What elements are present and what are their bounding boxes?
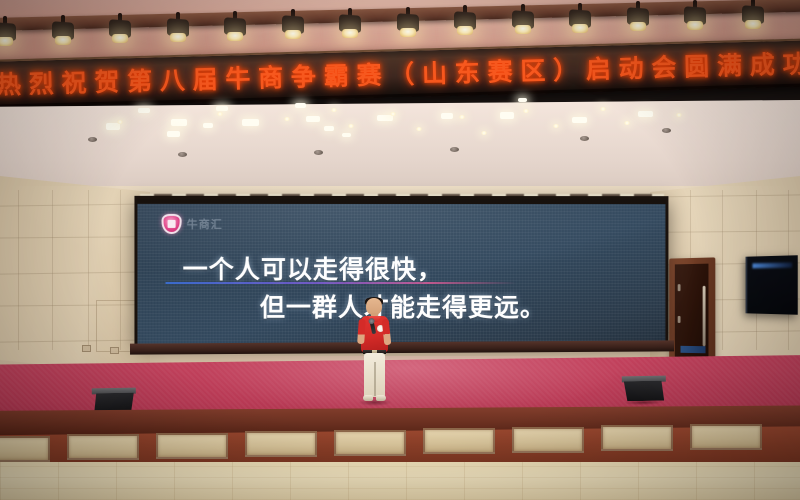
auditorium-floor	[0, 462, 800, 500]
spotlight-lens	[745, 20, 761, 29]
spotlight-lens	[457, 26, 473, 35]
ceiling-downlight	[676, 113, 682, 117]
spotlight-lens	[112, 34, 128, 43]
slide-text-line-2: 但一群人才能走得更远。	[260, 288, 546, 324]
banner-char: 启	[585, 50, 611, 87]
auditorium-scene: 热烈祝贺第八届牛商争霸赛（山东赛区）启动会圆满成功 牛商汇 一个人可以走得很快，…	[0, 0, 800, 500]
stage-spotlight	[627, 1, 649, 35]
stage-front-panel	[156, 433, 228, 459]
stage-spotlight	[167, 12, 189, 46]
ceiling-panel-light	[138, 108, 150, 113]
ceiling-panel-light	[441, 113, 453, 119]
banner-char: 烈	[28, 64, 54, 101]
screen-logo-label: 牛商汇	[187, 216, 223, 232]
stage-led-screen[interactable]: 牛商汇 一个人可以走得很快， 但一群人才能走得更远。	[134, 196, 668, 344]
ceiling-downlight	[416, 127, 422, 131]
ceiling-panel-light	[167, 131, 180, 137]
presenter[interactable]	[352, 298, 396, 404]
stage-light-pool	[200, 356, 620, 416]
spotlight-lens	[0, 37, 13, 46]
banner-char: 届	[192, 60, 218, 97]
banner-char: 满	[716, 46, 742, 83]
banner-char: 赛	[356, 56, 382, 93]
stage-spotlight	[339, 8, 361, 42]
stage-spotlight	[109, 13, 131, 47]
ceiling-downlight	[390, 112, 396, 116]
ceiling-speaker	[580, 136, 589, 141]
banner-char: 牛	[225, 59, 251, 96]
stage-front-panel	[0, 436, 50, 462]
banner-char: 热	[0, 65, 21, 102]
spotlight-lens	[687, 21, 703, 30]
banner-char: （	[389, 55, 415, 92]
spotlight-lens	[400, 28, 416, 37]
banner-char: 圆	[684, 47, 710, 84]
ceiling-speaker	[88, 137, 97, 142]
ceiling-panel-light	[324, 126, 333, 130]
stage-spotlight	[52, 15, 74, 49]
monitor-face-right	[624, 381, 664, 402]
banner-char: 商	[258, 58, 284, 95]
banner-char: 东	[454, 53, 480, 90]
spotlight-lens	[342, 29, 358, 38]
banner-char: 会	[651, 48, 677, 85]
door-hinge-lower	[678, 316, 681, 323]
ceiling-downlight	[217, 112, 223, 116]
screen-surface: 牛商汇 一个人可以走得很快， 但一群人才能走得更远。	[137, 204, 665, 344]
stage-front-panel	[334, 430, 406, 456]
spotlight-lens	[227, 32, 243, 41]
presenter-arm-right	[382, 319, 392, 346]
banner-char: 功	[782, 44, 800, 81]
spotlight-lens	[515, 25, 531, 34]
ceiling-panel-light	[106, 123, 120, 129]
ceiling-speaker	[450, 147, 459, 152]
presenter-shoe-right	[376, 395, 386, 401]
side-door[interactable]	[669, 257, 715, 366]
ceiling-speaker	[662, 128, 671, 133]
spotlight-lens	[55, 36, 71, 45]
spotlight-lens	[285, 30, 301, 39]
banner-char: 赛	[487, 52, 513, 89]
banner-char: ）	[553, 50, 579, 87]
ceiling-panel-light	[306, 116, 320, 122]
stage-front-panel	[690, 424, 762, 450]
ceiling-downlight	[481, 131, 487, 135]
ceiling-panel-light	[242, 119, 259, 126]
stage-spotlight	[397, 7, 419, 41]
stage-spotlight	[0, 16, 16, 50]
stage-front-panel	[601, 425, 673, 451]
door-handle[interactable]	[703, 286, 706, 346]
stage-spotlight	[224, 11, 246, 45]
ceiling-panel-light	[377, 115, 393, 121]
ceiling-downlight	[600, 107, 606, 111]
stage-front-panel	[423, 428, 495, 454]
banner-char: 动	[618, 49, 644, 86]
stage-monitor-right[interactable]	[622, 376, 667, 407]
ceiling-panel-light	[638, 111, 652, 117]
banner-char: 贺	[94, 62, 120, 99]
stage-spotlight	[282, 9, 304, 43]
spotlight-lens	[170, 33, 186, 42]
wall-socket-left-2[interactable]	[110, 347, 119, 354]
ceiling-downlight	[348, 124, 354, 128]
monitor-shadow-right	[624, 400, 662, 406]
ceiling-speaker	[178, 152, 187, 157]
ceiling-panel-light	[342, 133, 351, 137]
banner-char: 山	[422, 54, 448, 91]
slide-divider-rule	[166, 282, 516, 284]
stage-spotlight	[684, 0, 706, 34]
presenter-shoe-left	[363, 395, 373, 401]
banner-char: 祝	[61, 63, 87, 100]
stage-front-panel	[67, 434, 139, 460]
slide-text-line-1: 一个人可以走得很快，	[183, 250, 443, 286]
ceiling-panel-light	[216, 106, 228, 111]
ceiling-panel-light	[171, 119, 187, 126]
wall-mounted-display[interactable]	[746, 255, 798, 315]
stage-spotlight	[454, 5, 476, 39]
stage-spotlight	[512, 4, 534, 38]
ceiling-panel-light	[572, 117, 587, 123]
screen-logo: 牛商汇	[162, 214, 223, 234]
banner-char: 第	[127, 62, 153, 99]
stage-spotlight	[569, 3, 591, 37]
ceiling-downlight	[624, 121, 630, 125]
ceiling-speaker	[314, 150, 323, 155]
stage-front-panel	[512, 427, 584, 453]
door-sign	[681, 346, 706, 353]
stage-front-panel	[245, 431, 317, 457]
ceiling-panel-light	[500, 112, 514, 118]
stage-spotlight	[742, 0, 764, 33]
door-hinge-upper	[678, 284, 681, 291]
banner-char: 成	[749, 45, 775, 82]
banner-char: 八	[159, 61, 185, 98]
ceiling-panel-light	[518, 98, 527, 102]
banner-char: 霸	[323, 56, 349, 93]
banner-char: 区	[520, 51, 546, 88]
ceiling-panel-light	[203, 123, 213, 128]
spotlight-lens	[572, 24, 588, 33]
spotlight-lens	[630, 22, 646, 31]
ceiling-downlight	[331, 108, 337, 112]
shield-logo-icon	[162, 214, 182, 234]
presenter-leg-seam	[374, 362, 376, 396]
ceiling-downlight	[459, 115, 465, 119]
banner-char: 争	[290, 57, 316, 94]
wall-socket-left[interactable]	[82, 345, 91, 352]
ceiling-panel-light	[295, 103, 306, 108]
